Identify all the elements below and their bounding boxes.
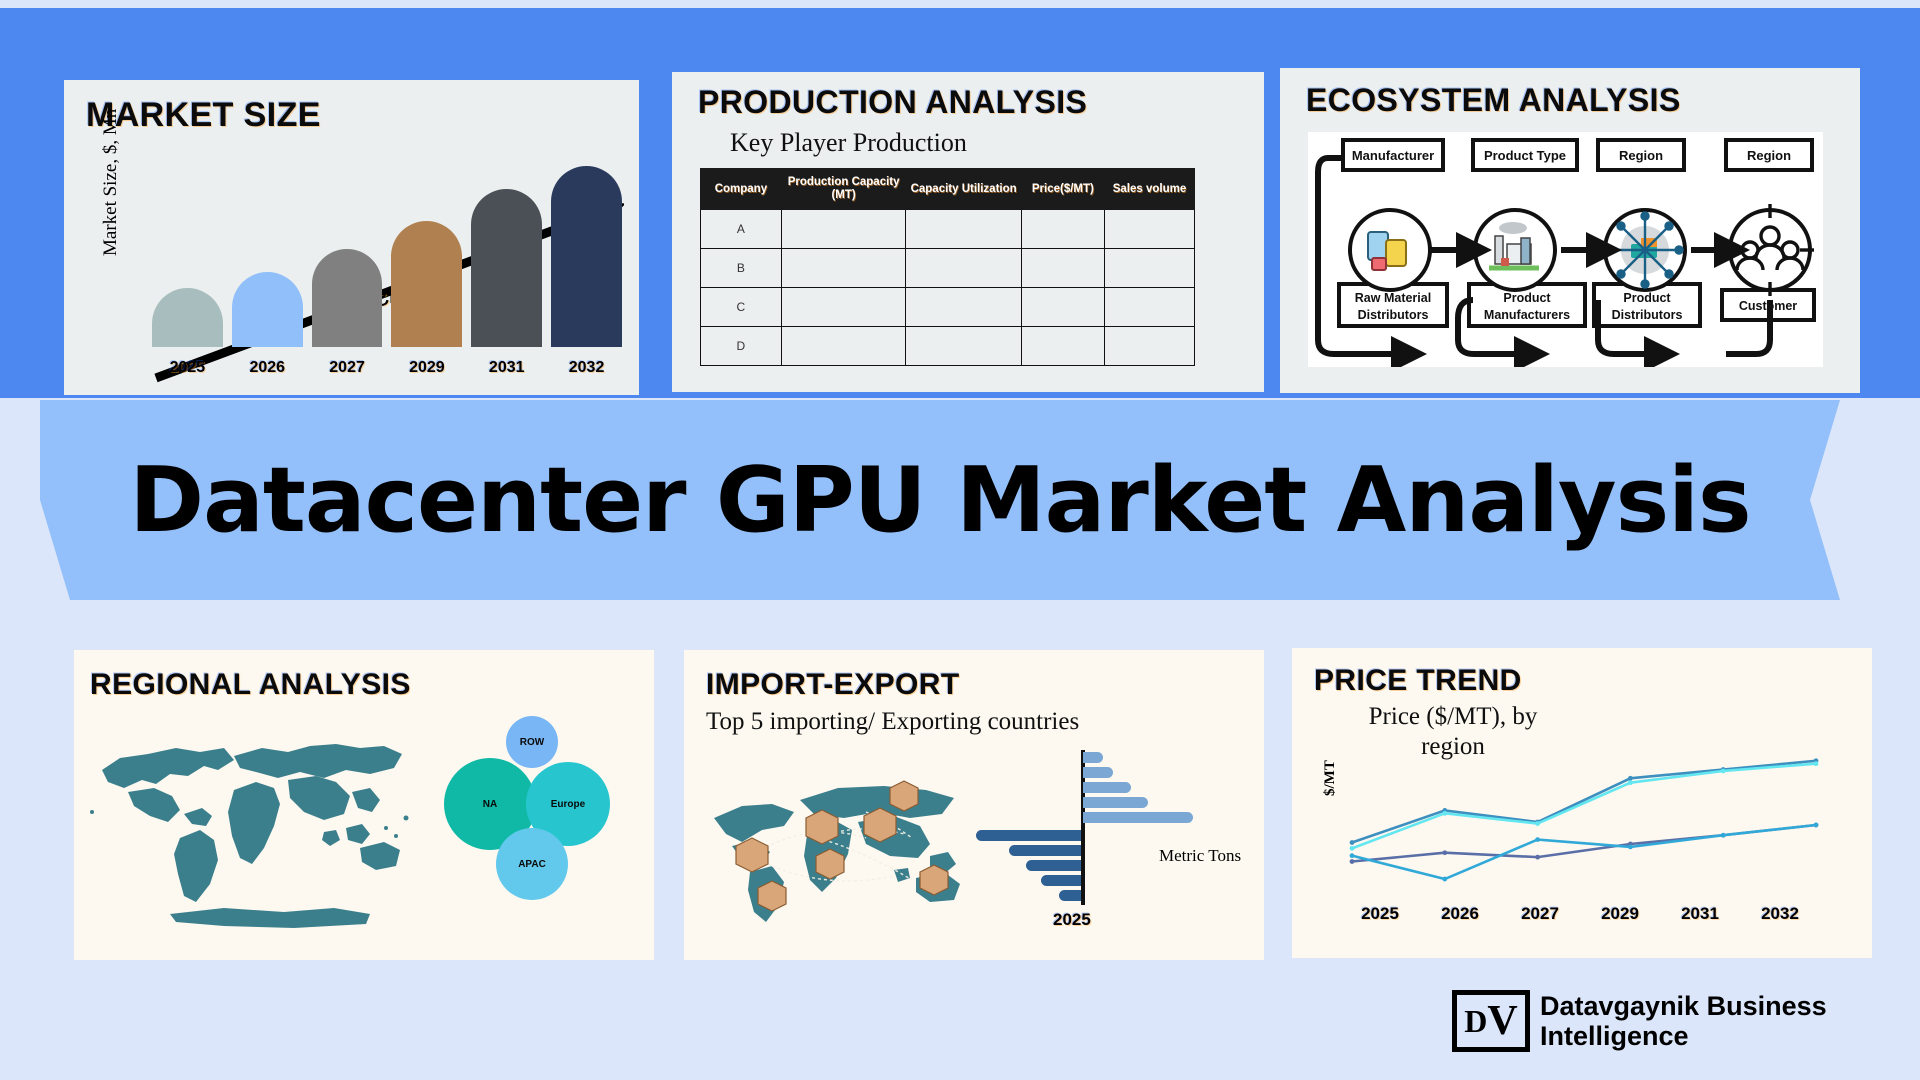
x-label-2026: 2026 <box>1420 904 1500 924</box>
price-trend-line-chart <box>1334 744 1834 904</box>
table-col-header: Company <box>701 169 782 210</box>
import-export-subtitle: Top 5 importing/ Exporting countries <box>706 708 1079 736</box>
import-export-tornado-chart: Metric Tons 2025 <box>1009 750 1244 930</box>
table-row[interactable]: C <box>701 288 1195 327</box>
price-point <box>1628 845 1633 850</box>
x-label-2029: 2029 <box>391 359 462 377</box>
price-point <box>1535 821 1540 826</box>
truck-network-icon <box>1608 213 1683 288</box>
ecosystem-title: ECOSYSTEM ANALYSIS <box>1306 82 1681 119</box>
eco-bottom-label: Product <box>1623 291 1671 305</box>
cell-capacity[interactable] <box>781 210 906 249</box>
table-row[interactable]: B <box>701 249 1195 288</box>
price-point <box>1442 850 1447 855</box>
price-point <box>1535 837 1540 842</box>
x-label-2032: 2032 <box>551 359 622 377</box>
panel-regional-analysis: REGIONAL ANALYSIS NA Europe APAC ROW <box>74 650 654 960</box>
eco-bottom-label: Distributors <box>1358 308 1429 322</box>
logo-text: Datavgaynik Business Intelligence <box>1540 991 1827 1051</box>
logo-letter-d: D <box>1464 1003 1487 1040</box>
market-size-bars <box>152 147 622 347</box>
table-row[interactable]: A <box>701 210 1195 249</box>
bar-2031 <box>471 189 542 347</box>
tornado-bar-import <box>1041 875 1081 886</box>
price-point <box>1721 769 1726 774</box>
cell-utilization[interactable] <box>906 249 1021 288</box>
bubble-apac: APAC <box>496 828 568 900</box>
price-point <box>1350 846 1355 851</box>
price-trend-x-labels: 202520262027202920312032 <box>1340 904 1820 924</box>
company-logo: D V Datavgaynik Business Intelligence <box>1452 990 1827 1052</box>
bar-2025 <box>152 288 223 347</box>
tornado-unit-label: Metric Tons <box>1159 846 1241 866</box>
cell-utilization[interactable] <box>906 210 1021 249</box>
logo-line-2: Intelligence <box>1540 1021 1827 1051</box>
cell-sales[interactable] <box>1104 249 1194 288</box>
cell-company[interactable]: A <box>701 210 782 249</box>
eco-top-label: Region <box>1747 148 1791 163</box>
bar-2032 <box>551 166 622 347</box>
x-label-2031: 2031 <box>1660 904 1740 924</box>
ecosystem-flow-svg: ManufacturerProduct TypeRegionRegionRaw … <box>1308 132 1823 367</box>
cell-sales[interactable] <box>1104 210 1194 249</box>
tornado-year-label: 2025 <box>1053 910 1091 930</box>
bar-2027 <box>312 249 383 347</box>
cell-capacity[interactable] <box>781 327 906 366</box>
cell-price[interactable] <box>1021 288 1104 327</box>
price-point <box>1814 761 1819 766</box>
market-size-bar <box>312 249 383 347</box>
tornado-bar-export <box>1083 782 1131 793</box>
cell-price[interactable] <box>1021 210 1104 249</box>
logo-line-1: Datavgaynik Business <box>1540 991 1827 1021</box>
eco-bottom-label: Distributors <box>1612 308 1683 322</box>
production-subtitle: Key Player Production <box>730 128 967 158</box>
cell-price[interactable] <box>1021 249 1104 288</box>
price-line-series-2 <box>1352 764 1816 849</box>
x-label-2026: 2026 <box>232 359 303 377</box>
tornado-bar-import <box>976 830 1081 841</box>
price-point <box>1721 833 1726 838</box>
price-point <box>1350 853 1355 858</box>
panel-ecosystem-analysis: ECOSYSTEM ANALYSIS ManufacturerProduct T… <box>1280 68 1860 393</box>
table-col-header: Price($/MT) <box>1021 169 1104 210</box>
cell-capacity[interactable] <box>781 249 906 288</box>
cell-company[interactable]: D <box>701 327 782 366</box>
x-label-2025: 2025 <box>1340 904 1420 924</box>
table-header-row: CompanyProduction Capacity (MT)Capacity … <box>701 169 1195 210</box>
production-title: PRODUCTION ANALYSIS <box>698 84 1087 121</box>
price-line-series-1 <box>1352 761 1816 843</box>
market-size-bar <box>471 189 542 347</box>
logo-mark-dv: D V <box>1452 990 1530 1052</box>
x-label-2025: 2025 <box>152 359 223 377</box>
cell-sales[interactable] <box>1104 327 1194 366</box>
panel-price-trend: PRICE TREND Price ($/MT), by region $/MT… <box>1292 648 1872 958</box>
cell-capacity[interactable] <box>781 288 906 327</box>
cell-utilization[interactable] <box>906 288 1021 327</box>
price-point <box>1535 855 1540 860</box>
tornado-bar-export <box>1083 797 1148 808</box>
regional-title: REGIONAL ANALYSIS <box>90 668 411 702</box>
table-body: ABCD <box>701 210 1195 366</box>
tornado-bar-import <box>1059 890 1082 901</box>
eco-bottom-label: Product <box>1503 291 1551 305</box>
price-point <box>1442 811 1447 816</box>
page-title: Datacenter GPU Market Analysis <box>129 448 1750 553</box>
cell-company[interactable]: B <box>701 249 782 288</box>
table-col-header: Sales volume <box>1104 169 1194 210</box>
bar-2026 <box>232 272 303 347</box>
import-export-title: IMPORT-EXPORT <box>706 668 960 702</box>
cell-price[interactable] <box>1021 327 1104 366</box>
tornado-bar-import <box>1026 860 1081 871</box>
eco-bottom-label: Raw Material <box>1355 291 1431 305</box>
price-point <box>1628 780 1633 785</box>
panel-import-export: IMPORT-EXPORT Top 5 importing/ Exporting… <box>684 650 1264 960</box>
eco-top-label: Manufacturer <box>1352 148 1434 163</box>
eco-bottom-label: Manufacturers <box>1484 308 1570 322</box>
trade-routes-map-icon <box>698 760 998 930</box>
eco-top-label: Product Type <box>1484 148 1566 163</box>
panel-production-analysis: PRODUCTION ANALYSIS Key Player Productio… <box>672 72 1264 392</box>
market-size-bar <box>551 166 622 347</box>
market-size-x-labels: 202520262027202920312032 <box>152 359 622 377</box>
table-col-header: Capacity Utilization <box>906 169 1021 210</box>
price-trend-title: PRICE TREND <box>1314 664 1522 698</box>
x-label-2027: 2027 <box>312 359 383 377</box>
tornado-bar-export <box>1083 812 1193 823</box>
market-size-bar <box>391 221 462 347</box>
main-title-ribbon: Datacenter GPU Market Analysis <box>40 400 1840 600</box>
x-label-2029: 2029 <box>1580 904 1660 924</box>
cell-sales[interactable] <box>1104 288 1194 327</box>
price-point <box>1350 859 1355 864</box>
region-bubble-chart: NA Europe APAC ROW <box>444 716 644 936</box>
key-player-production-table: CompanyProduction Capacity (MT)Capacity … <box>700 168 1195 366</box>
cell-company[interactable]: C <box>701 288 782 327</box>
x-label-2031: 2031 <box>471 359 542 377</box>
x-label-2032: 2032 <box>1740 904 1820 924</box>
price-point <box>1442 877 1447 882</box>
bar-2029 <box>391 221 462 347</box>
market-size-bar <box>152 288 223 347</box>
market-size-y-axis-label: Market Size, $, Mn <box>100 109 122 256</box>
x-label-2027: 2027 <box>1500 904 1580 924</box>
tornado-bar-export <box>1083 752 1103 763</box>
market-size-bar <box>232 272 303 347</box>
price-line-series-4 <box>1352 825 1816 879</box>
table-col-header: Production Capacity (MT) <box>781 169 906 210</box>
logo-letter-v: V <box>1487 997 1517 1045</box>
price-point <box>1628 776 1633 781</box>
bubble-row: ROW <box>506 716 558 768</box>
ecosystem-diagram: ManufacturerProduct TypeRegionRegionRaw … <box>1308 132 1823 367</box>
tornado-bar-export <box>1083 767 1113 778</box>
price-point <box>1350 840 1355 845</box>
panel-market-size: MARKET SIZE Market Size, $, Mn CAGR 2025… <box>64 80 639 395</box>
tornado-bar-import <box>1009 845 1082 856</box>
price-point <box>1814 823 1819 828</box>
table-row[interactable]: D <box>701 327 1195 366</box>
eco-top-label: Region <box>1619 148 1663 163</box>
cell-utilization[interactable] <box>906 327 1021 366</box>
world-map-icon <box>84 718 434 933</box>
